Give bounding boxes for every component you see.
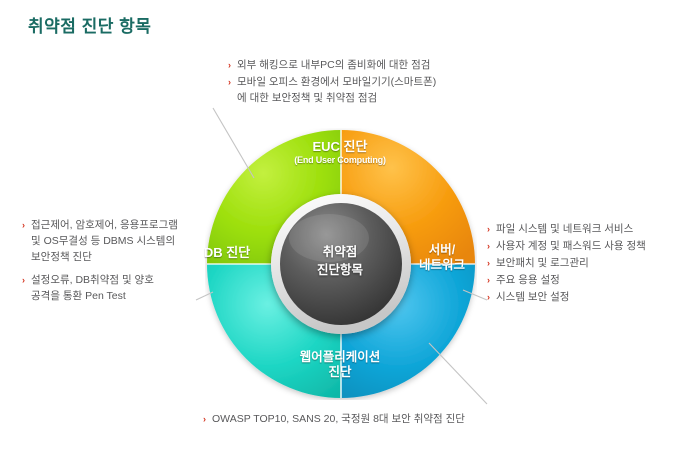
callout-server-bullet-1-text: 파일 시스템 및 네트워크 서비스 — [496, 223, 633, 235]
callout-server: ›파일 시스템 및 네트워크 서비스›사용자 계정 및 패스워드 사용 정책›보… — [487, 222, 677, 307]
callout-server-bullet-3: ›보안패치 및 로그관리 — [487, 256, 677, 272]
bullet-arrow-icon: › — [487, 239, 490, 254]
bullet-arrow-icon: › — [203, 412, 206, 427]
callout-server-bullet-4: ›주요 응용 설정 — [487, 273, 677, 289]
callout-euc: ›외부 해킹으로 내부PC의 좀비화에 대한 점검›모바일 오피스 환경에서 모… — [228, 58, 478, 108]
callout-euc-bullet-2: ›모바일 오피스 환경에서 모바일기기(스마트폰)에 대한 보안정책 및 취약점… — [228, 75, 478, 107]
callout-web-bullet-1: ›OWASP TOP10, SANS 20, 국정원 8대 보안 취약점 진단 — [203, 412, 503, 428]
callout-db-bullet-1-cont-2: 보안정책 진단 — [31, 250, 200, 266]
callout-server-bullet-2: ›사용자 계정 및 패스워드 사용 정책 — [487, 239, 677, 255]
callout-server-bullet-1: ›파일 시스템 및 네트워크 서비스 — [487, 222, 677, 238]
callout-db: ›접근제어, 암호제어, 응용프로그램및 OS무결성 등 DBMS 시스템의보안… — [22, 218, 200, 306]
callout-server-bullet-4-text: 주요 응용 설정 — [496, 274, 560, 286]
diagram-canvas: 취약점 진단 항목 — [0, 0, 680, 450]
callout-euc-bullet-2-cont-1: 에 대한 보안정책 및 취약점 점검 — [237, 91, 478, 107]
callout-web-bullet-1-text: OWASP TOP10, SANS 20, 국정원 8대 보안 취약점 진단 — [212, 413, 465, 425]
bullet-arrow-icon: › — [487, 273, 490, 288]
callout-server-bullet-5: ›시스템 보안 설정 — [487, 290, 677, 306]
page-title: 취약점 진단 항목 — [28, 12, 151, 37]
callout-db-bullet-1-cont-1: 및 OS무결성 등 DBMS 시스템의 — [31, 234, 200, 250]
callout-db-bullet-2-cont-1: 공격을 통환 Pen Test — [31, 289, 200, 305]
callout-db-bullet-1-text: 접근제어, 암호제어, 응용프로그램 — [31, 219, 178, 231]
bullet-arrow-icon: › — [228, 75, 231, 90]
callout-db-bullet-1: ›접근제어, 암호제어, 응용프로그램및 OS무결성 등 DBMS 시스템의보안… — [22, 218, 200, 266]
callout-euc-bullet-1-text: 외부 해킹으로 내부PC의 좀비화에 대한 점검 — [237, 59, 430, 71]
sphere-highlight — [289, 214, 369, 262]
bullet-arrow-icon: › — [487, 222, 490, 237]
bullet-arrow-icon: › — [22, 273, 25, 288]
callout-db-bullet-2-text: 설정오류, DB취약점 및 양호 — [31, 274, 154, 286]
bullet-arrow-icon: › — [487, 290, 490, 305]
callout-web: ›OWASP TOP10, SANS 20, 국정원 8대 보안 취약점 진단 — [203, 412, 503, 429]
donut-chart — [205, 128, 477, 400]
callout-server-bullet-3-text: 보안패치 및 로그관리 — [496, 257, 589, 269]
bullet-arrow-icon: › — [228, 58, 231, 73]
bullet-arrow-icon: › — [22, 218, 25, 233]
callout-db-bullet-2: ›설정오류, DB취약점 및 양호공격을 통환 Pen Test — [22, 273, 200, 305]
callout-server-bullet-5-text: 시스템 보안 설정 — [496, 291, 569, 303]
callout-euc-bullet-1: ›외부 해킹으로 내부PC의 좀비화에 대한 점검 — [228, 58, 478, 74]
bullet-arrow-icon: › — [487, 256, 490, 271]
callout-euc-bullet-2-text: 모바일 오피스 환경에서 모바일기기(스마트폰) — [237, 76, 436, 88]
callout-server-bullet-2-text: 사용자 계정 및 패스워드 사용 정책 — [496, 240, 646, 252]
